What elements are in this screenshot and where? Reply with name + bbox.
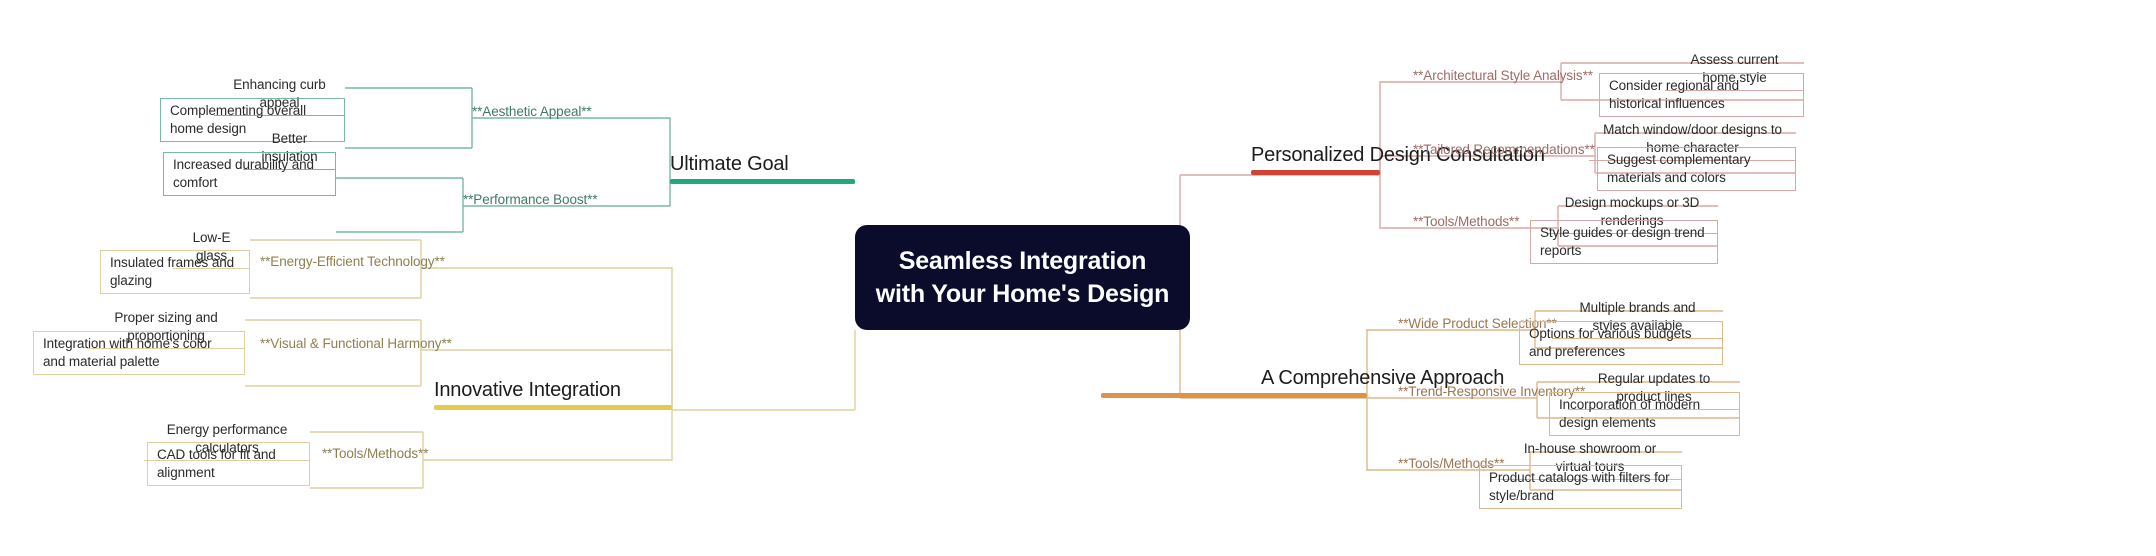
leaf-product-catalogs-with-filters-for-style-brand[interactable]: Product catalogs with filters for style/… — [1479, 465, 1682, 509]
topic-performance-boost[interactable]: **Performance Boost** — [463, 192, 597, 207]
branch-title-ultimate-goal: Ultimate Goal — [670, 153, 789, 176]
branch-personalized-design-consultation[interactable]: Personalized Design Consultation — [1251, 131, 1380, 175]
root-node[interactable]: Seamless Integration with Your Home's De… — [855, 225, 1190, 330]
topic-tailored-recommendations[interactable]: **Tailored Recommendations** — [1413, 142, 1595, 157]
branch-bar-a-comprehensive-approach — [1101, 393, 1367, 398]
topic-energy-efficient-technology[interactable]: **Energy-Efficient Technology** — [260, 254, 445, 269]
leaf-increased-durability-and-comfort[interactable]: Increased durability and comfort — [163, 152, 336, 196]
topic-tools-methods-personalized[interactable]: **Tools/Methods** — [1413, 214, 1519, 229]
branch-title-innovative-integration: Innovative Integration — [434, 379, 621, 402]
topic-visual-functional-harmony[interactable]: **Visual & Functional Harmony** — [260, 336, 452, 351]
topic-aesthetic-appeal[interactable]: **Aesthetic Appeal** — [472, 104, 592, 119]
branch-innovative-integration[interactable]: Innovative Integration — [434, 366, 672, 410]
topic-tools-methods-innovative[interactable]: **Tools/Methods** — [322, 446, 428, 461]
root-node-label: Seamless Integration with Your Home's De… — [871, 245, 1174, 311]
mindmap-canvas: Seamless Integration with Your Home's De… — [0, 0, 2156, 556]
branch-ultimate-goal[interactable]: Ultimate Goal — [670, 140, 855, 184]
leaf-integration-with-homes-color-and-material-palette[interactable]: Integration with home's color and materi… — [33, 331, 245, 375]
leaf-style-guides-or-design-trend-reports[interactable]: Style guides or design trend reports — [1530, 220, 1718, 264]
leaf-insulated-frames-and-glazing[interactable]: Insulated frames and glazing — [100, 250, 250, 294]
leaf-suggest-complementary-materials-and-colors[interactable]: Suggest complementary materials and colo… — [1597, 147, 1796, 191]
branch-bar-ultimate-goal — [670, 179, 855, 184]
topic-architectural-style-analysis[interactable]: **Architectural Style Analysis** — [1413, 68, 1593, 83]
branch-a-comprehensive-approach[interactable]: A Comprehensive Approach — [1101, 354, 1367, 398]
branch-bar-personalized-design-consultation — [1251, 170, 1380, 175]
leaf-cad-tools-for-fit-and-alignment[interactable]: CAD tools for fit and alignment — [147, 442, 310, 486]
branch-bar-innovative-integration — [434, 405, 672, 410]
leaf-incorporation-of-modern-design-elements[interactable]: Incorporation of modern design elements — [1549, 392, 1740, 436]
leaf-options-for-various-budgets-and-preferences[interactable]: Options for various budgets and preferen… — [1519, 321, 1723, 365]
leaf-consider-regional-and-historical-influences[interactable]: Consider regional and historical influen… — [1599, 73, 1804, 117]
